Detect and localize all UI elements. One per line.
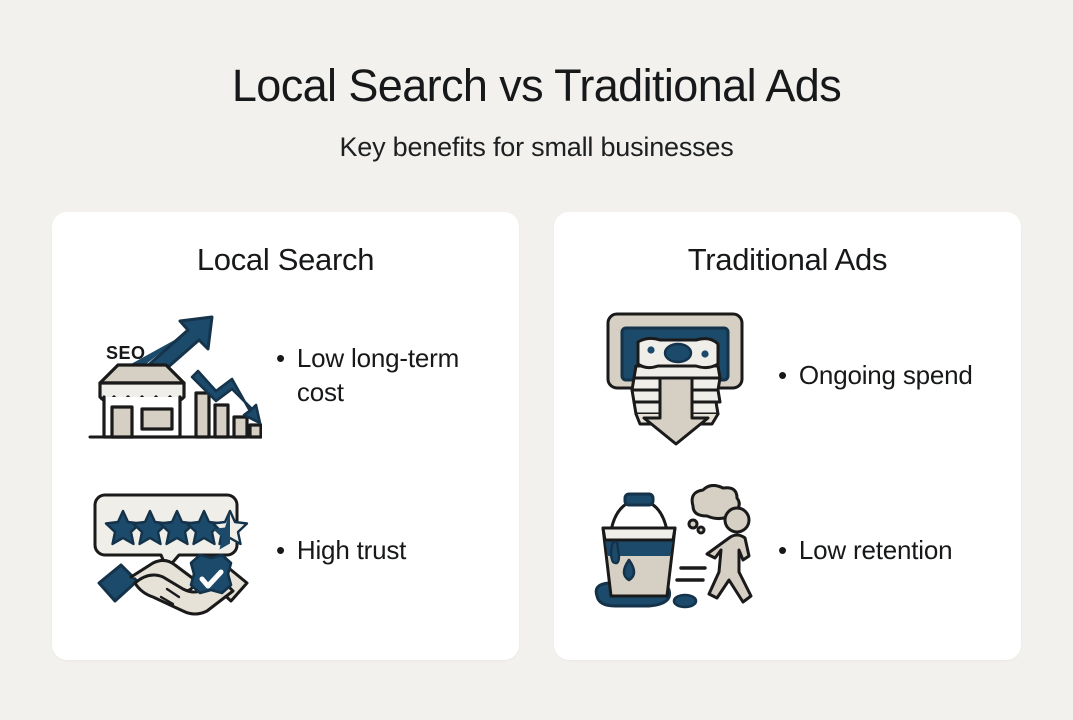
page-subtitle: Key benefits for small businesses [0, 133, 1073, 163]
seo-icon-label: SEO [106, 343, 146, 363]
bullet-text: Low retention [799, 534, 953, 567]
header: Local Search vs Traditional Ads Key bene… [0, 0, 1073, 163]
leaking-bucket-walking-person-icon [580, 476, 770, 626]
seo-storefront-growth-icon: SEO [78, 301, 268, 451]
bullet-marker: • [276, 342, 285, 375]
bullet-low-retention: • Low retention [778, 534, 952, 567]
comparison-cards: Local Search [52, 212, 1021, 660]
atm-cash-dispense-icon [580, 301, 770, 451]
bullet-high-trust: • High trust [276, 534, 406, 567]
bullet-marker: • [778, 534, 787, 567]
bullet-marker: • [778, 359, 787, 392]
bullet-low-long-term-cost: • Low long-term cost [276, 342, 493, 409]
card-traditional-ads: Traditional Ads [554, 212, 1021, 660]
card-rows-traditional-ads: • Ongoing spend [576, 288, 999, 638]
bullet-text: Low long-term cost [297, 342, 493, 409]
infographic-page: Local Search vs Traditional Ads Key bene… [0, 0, 1073, 720]
row-low-retention: • Low retention [576, 463, 999, 638]
card-title-local-search: Local Search [74, 242, 497, 278]
bullet-ongoing-spend: • Ongoing spend [778, 359, 973, 392]
row-high-trust: • High trust [74, 463, 497, 638]
five-star-handshake-trust-icon [78, 476, 268, 626]
bullet-text: Ongoing spend [799, 359, 973, 392]
bullet-text: High trust [297, 534, 406, 567]
row-low-long-term-cost: SEO • Low long-term cost [74, 288, 497, 463]
bullet-marker: • [276, 534, 285, 567]
card-title-traditional-ads: Traditional Ads [576, 242, 999, 278]
card-rows-local-search: SEO • Low long-term cost [74, 288, 497, 638]
page-title: Local Search vs Traditional Ads [0, 62, 1073, 109]
row-ongoing-spend: • Ongoing spend [576, 288, 999, 463]
card-local-search: Local Search [52, 212, 519, 660]
